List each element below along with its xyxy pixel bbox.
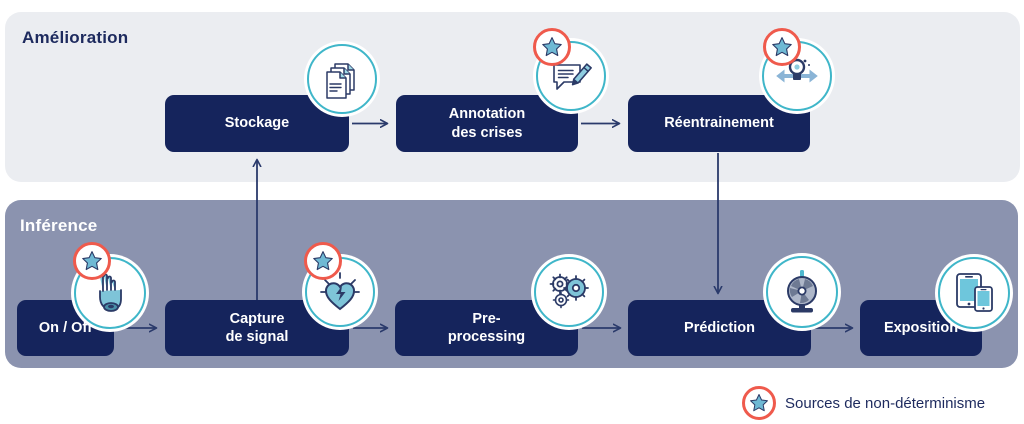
legend: Sources de non-déterminisme (742, 386, 985, 420)
devices-icon (938, 257, 1010, 329)
node-label-preprocessing: Pre- processing (448, 310, 525, 346)
legend-label: Sources de non-déterminisme (785, 395, 985, 412)
documents-icon (307, 44, 377, 114)
node-label-capture: Capture de signal (226, 310, 289, 346)
star-badge-icon (533, 28, 571, 66)
gears-icon (534, 257, 604, 327)
star-badge-icon (763, 28, 801, 66)
node-label-prediction: Prédiction (684, 319, 755, 337)
diagram-canvas: Amélioration Inférence Stockage A (0, 0, 1024, 424)
node-label-onoff: On / Off (39, 319, 92, 337)
star-badge-icon (73, 242, 111, 280)
connector-arrows (0, 0, 1024, 424)
node-label-reentrainement: Réentrainement (664, 114, 774, 132)
node-label-annotation: Annotation des crises (449, 105, 526, 141)
radar-fan-icon (766, 256, 838, 328)
star-badge-icon (304, 242, 342, 280)
node-label-exposition: Exposition (884, 319, 958, 337)
star-badge-icon (742, 386, 776, 420)
node-label-stockage: Stockage (225, 114, 289, 132)
